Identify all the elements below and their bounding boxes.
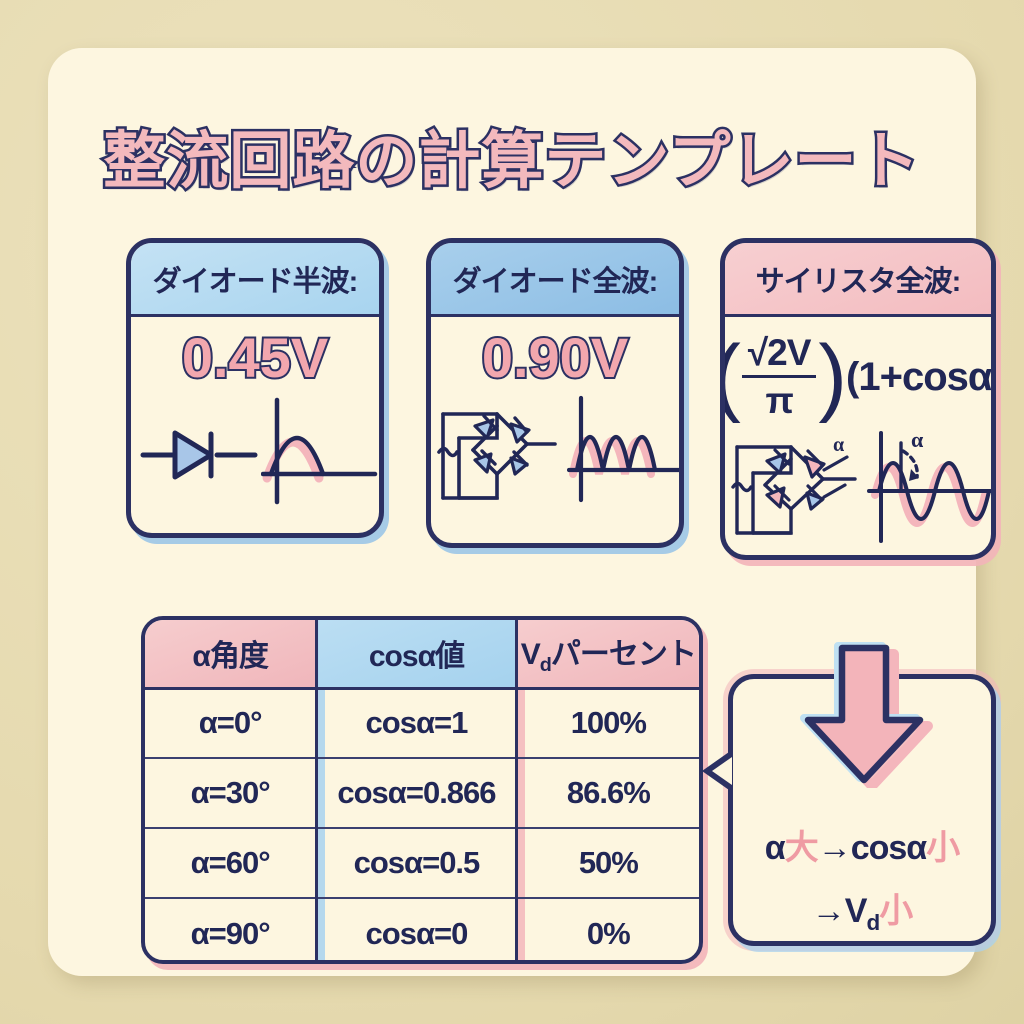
bridge-rectifier-circuit-icon <box>435 404 563 508</box>
alpha-cos-vd-table[interactable]: α角度 cosα値 Vdパーセント α=0° cosα=1 100% α=30°… <box>141 616 703 964</box>
column-header-cos: cosα値 <box>317 620 516 688</box>
cell-alpha: α=90° <box>145 898 317 964</box>
card-figure-group: α α <box>725 425 991 555</box>
vd-main: V <box>521 638 540 671</box>
column-header-vd: Vdパーセント <box>516 620 699 688</box>
big-kanji: 大 <box>785 829 818 867</box>
card-figure-group <box>131 390 379 520</box>
card-figure-group <box>431 390 679 520</box>
arrow-glyph: → <box>812 892 845 930</box>
cell-vd: 86.6% <box>516 758 699 828</box>
formula-fraction: √2V π <box>742 332 817 422</box>
card-header-label: ダイオード半波: <box>131 243 379 317</box>
diode-symbol-icon <box>139 420 259 490</box>
column-header-alpha: α角度 <box>145 620 317 688</box>
arrow-glyph: → <box>818 829 851 867</box>
cell-vd: 50% <box>516 828 699 898</box>
data-table: α角度 cosα値 Vdパーセント α=0° cosα=1 100% α=30°… <box>145 620 699 964</box>
cell-cos: cosα=0 <box>317 898 516 964</box>
small-kanji: 小 <box>926 829 959 867</box>
full-wave-waveform-icon <box>567 394 684 506</box>
cell-cos: cosα=1 <box>317 688 516 758</box>
table-row[interactable]: α=30° cosα=0.866 86.6% <box>145 758 699 828</box>
cell-vd: 0% <box>516 898 699 964</box>
callout-line-1: α大→cosα小 <box>728 820 996 869</box>
thyristor-bridge-circuit-icon: α <box>729 437 867 545</box>
formula-rest: (1+cosα) <box>846 355 996 400</box>
cell-cos: cosα=0.5 <box>317 828 516 898</box>
card-diode-half-wave[interactable]: ダイオード半波: 0.45V <box>126 238 384 538</box>
svg-text:α: α <box>911 429 924 452</box>
vd-sub: d <box>540 654 551 676</box>
cell-alpha: α=0° <box>145 688 317 758</box>
table-header-row: α角度 cosα値 Vdパーセント <box>145 620 699 688</box>
card-value: 0.90V <box>431 325 679 390</box>
table-row[interactable]: α=0° cosα=1 100% <box>145 688 699 758</box>
card-header-label: サイリスタ全波: <box>725 243 991 317</box>
card-formula: ( √2V π ) (1+cosα) <box>725 329 991 425</box>
formula-numerator: √2V <box>742 332 817 378</box>
callout-tail-inner <box>712 757 732 785</box>
content-panel: 整流回路の計算テンプレート ダイオード半波: 0.45V <box>48 48 976 976</box>
cell-vd: 100% <box>516 688 699 758</box>
half-wave-waveform-icon <box>261 396 381 508</box>
small-kanji: 小 <box>879 892 912 930</box>
formula-open-paren: ( <box>720 338 740 415</box>
cell-alpha: α=60° <box>145 828 317 898</box>
formula-close-paren: ) <box>818 338 846 415</box>
callout-line-2: →Vd小 <box>728 883 996 936</box>
page-title: 整流回路の計算テンプレート <box>48 110 976 200</box>
callout-text: α大→cosα小 →Vd小 <box>728 820 996 936</box>
cell-cos: cosα=0.866 <box>317 758 516 828</box>
vd-subscript: d <box>866 910 879 935</box>
vd-symbol: V <box>845 892 867 930</box>
card-diode-full-wave[interactable]: ダイオード全波: 0.90V <box>426 238 684 548</box>
poster-canvas: 整流回路の計算テンプレート ダイオード半波: 0.45V <box>0 0 1024 1024</box>
svg-text:α: α <box>833 437 844 456</box>
card-header-label: ダイオード全波: <box>431 243 679 317</box>
summary-callout[interactable]: α大→cosα小 →Vd小 <box>728 674 996 946</box>
down-arrow-icon <box>790 642 938 788</box>
table-row[interactable]: α=60° cosα=0.5 50% <box>145 828 699 898</box>
alpha-symbol: α <box>765 829 785 867</box>
cos-alpha-symbol: cosα <box>851 829 927 867</box>
vd-tail: パーセント <box>551 638 696 671</box>
card-value: 0.45V <box>131 325 379 390</box>
card-thyristor-full-wave[interactable]: サイリスタ全波: ( √2V π ) (1+cosα) <box>720 238 996 560</box>
table-row[interactable]: α=90° cosα=0 0% <box>145 898 699 964</box>
cell-alpha: α=30° <box>145 758 317 828</box>
phase-controlled-waveform-icon: α <box>867 429 996 545</box>
formula-denominator: π <box>765 378 792 422</box>
